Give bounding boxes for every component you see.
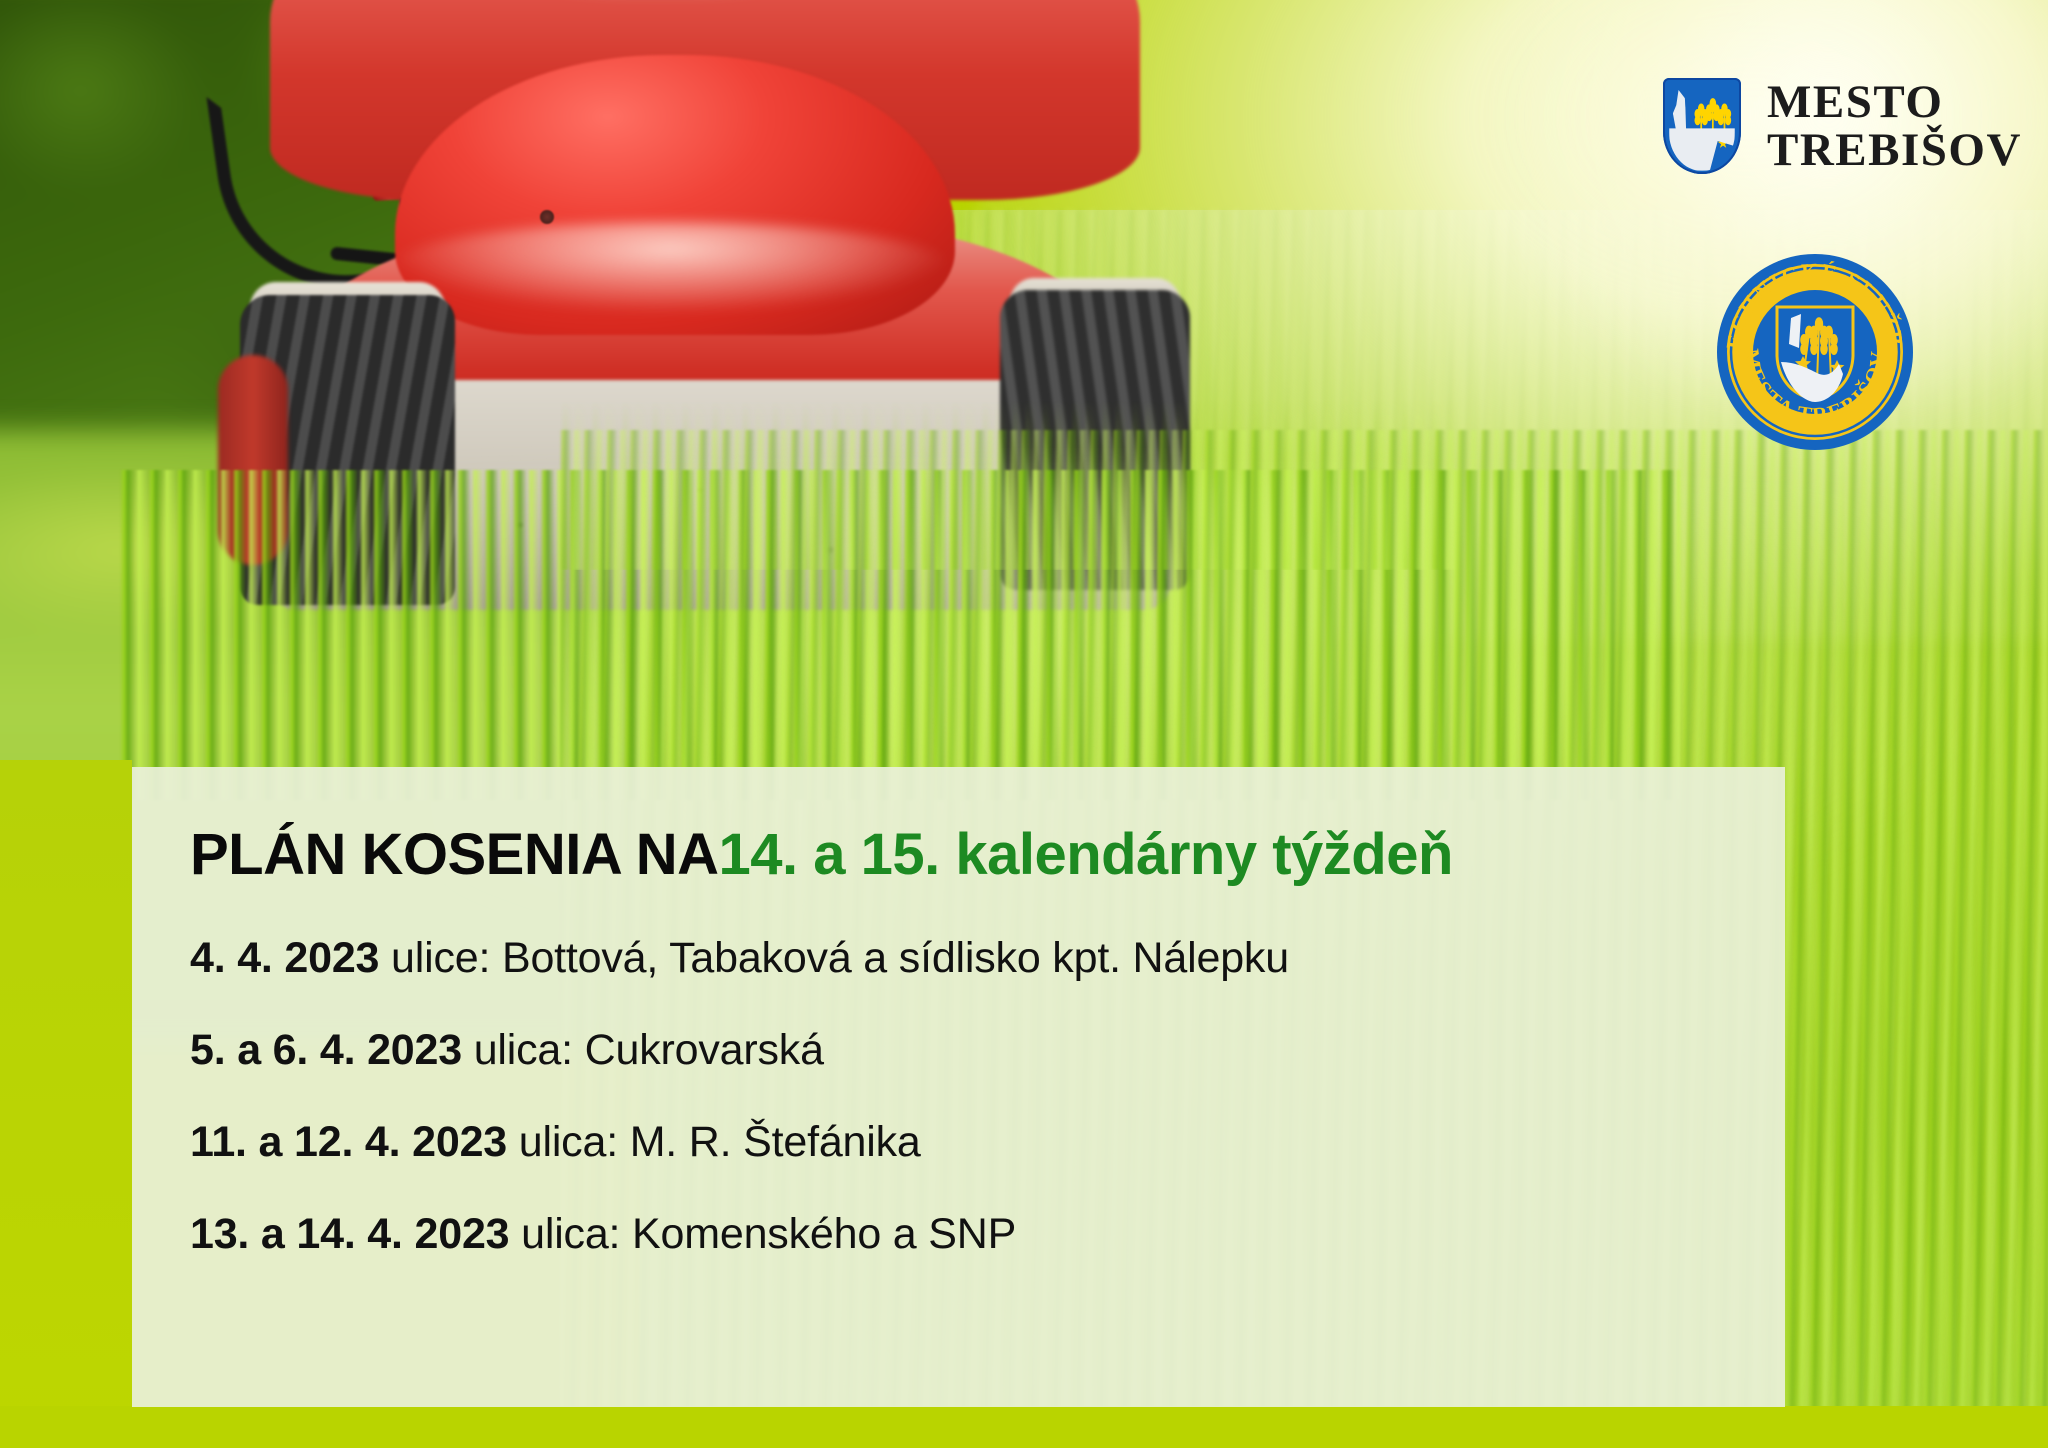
schedule-row: 13. a 14. 4. 2023 ulica: Komenského a SN… [190, 1210, 1785, 1259]
city-logo-text: MESTO TREBIŠOV [1767, 78, 2022, 175]
mowing-plan-poster: MESTO TREBIŠOV [0, 0, 2048, 1448]
bottom-green-band [0, 1406, 2048, 1448]
schedule-row-streets: ulice: Bottová, Tabaková a sídlisko kpt.… [379, 934, 1289, 982]
schedule-row-streets: ulica: Cukrovarská [462, 1026, 824, 1074]
left-green-band [0, 760, 132, 1448]
schedule-row: 5. a 6. 4. 2023 ulica: Cukrovarská [190, 1026, 1785, 1075]
schedule-row-date: 5. a 6. 4. 2023 [190, 1026, 462, 1074]
schedule-panel: PLÁN KOSENIA NA14. a 15. kalendárny týžd… [132, 767, 1785, 1407]
city-logo-line-1: MESTO [1767, 78, 2022, 126]
schedule-row-streets: ulica: M. R. Štefánika [507, 1118, 921, 1166]
page-title-green: 14. a 15. kalendárny týždeň [719, 822, 1453, 887]
schedule-row: 11. a 12. 4. 2023 ulica: M. R. Štefánika [190, 1118, 1785, 1167]
mower-rim-highlight [390, 222, 950, 312]
crest-bowl-shape [1669, 128, 1735, 170]
schedule-row-date: 4. 4. 2023 [190, 934, 379, 982]
city-logo-line-2: TREBIŠOV [1767, 126, 2022, 174]
trebisov-coat-of-arms-icon [1663, 78, 1741, 174]
schedule-row-streets: ulica: Komenského a SNP [509, 1210, 1016, 1258]
schedule-row: 4. 4. 2023 ulice: Bottová, Tabaková a sí… [190, 934, 1785, 983]
schedule-row-date: 11. a 12. 4. 2023 [190, 1118, 507, 1166]
technical-services-seal-icon: TECHNICKÉ SLUŽBY MESTA TREBIŠOV [1715, 252, 1915, 452]
page-title-black: PLÁN KOSENIA NA [190, 822, 719, 887]
page-title: PLÁN KOSENIA NA14. a 15. kalendárny týžd… [190, 821, 1785, 888]
city-logo: MESTO TREBIŠOV [1663, 78, 2022, 175]
mower-bolt [540, 210, 554, 224]
schedule-row-date: 13. a 14. 4. 2023 [190, 1210, 509, 1258]
